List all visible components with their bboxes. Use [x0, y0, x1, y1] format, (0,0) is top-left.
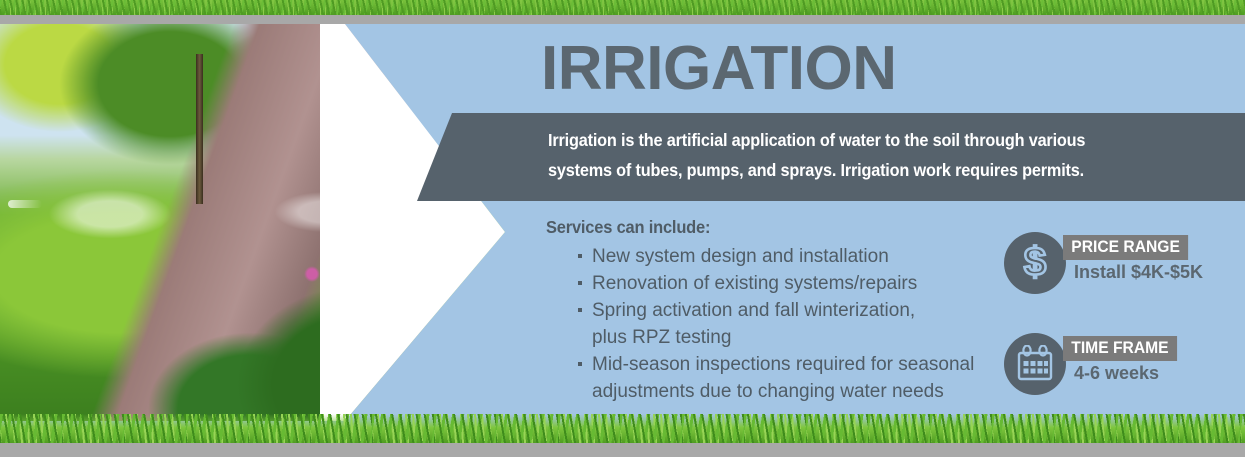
bullet-icon: [578, 281, 582, 285]
list-item-text: New system design and installation: [592, 246, 889, 267]
list-item: Spring activation and fall winterization…: [578, 297, 974, 351]
gray-divider-bottom: [0, 443, 1245, 457]
photo-image: [0, 24, 505, 421]
status-badge-time-frame: TIME FRAME 4-6 weeks: [1004, 333, 1234, 397]
irrigation-photo: [0, 24, 505, 421]
list-item: New system design and installation: [578, 243, 974, 270]
status-badge-price-range: $ PRICE RANGE Install $4K-$5K: [1004, 232, 1234, 296]
time-frame-value: 4-6 weeks: [1074, 363, 1159, 384]
sprinkler-detail: [8, 200, 42, 208]
price-range-label: PRICE RANGE: [1063, 235, 1188, 260]
bullet-icon: [578, 308, 582, 312]
irrigation-service-card: IRRIGATION Irrigation is the artificial …: [0, 0, 1245, 457]
time-frame-label: TIME FRAME: [1063, 336, 1177, 361]
calendar-icon: [1004, 333, 1066, 395]
description-line-2: systems of tubes, pumps, and sprays. Irr…: [548, 155, 1162, 185]
gray-divider-top: [0, 15, 1245, 24]
grass-strip-bottom: [0, 414, 1245, 444]
description-line-1: Irrigation is the artificial application…: [548, 125, 1162, 155]
dollar-sign-icon: $: [1004, 232, 1066, 294]
tree-trunk-detail: [196, 54, 203, 204]
list-item-text: Spring activation and fall winterization…: [592, 300, 915, 321]
services-heading: Services can include:: [546, 217, 710, 238]
list-item-text: Renovation of existing systems/repairs: [592, 273, 917, 294]
list-item-text-continued: plus RPZ testing: [592, 324, 974, 351]
bullet-icon: [578, 254, 582, 258]
page-title: IRRIGATION: [541, 38, 897, 100]
grass-strip-top: [0, 0, 1245, 15]
bullet-icon: [578, 362, 582, 366]
list-item-text-continued: adjustments due to changing water needs: [592, 378, 974, 405]
list-item-text: Mid-season inspections required for seas…: [592, 354, 974, 375]
svg-text:$: $: [1024, 241, 1046, 284]
description-text: Irrigation is the artificial application…: [548, 125, 1162, 185]
price-range-value: Install $4K-$5K: [1074, 262, 1203, 283]
services-list: New system design and installation Renov…: [578, 243, 974, 405]
list-item: Renovation of existing systems/repairs: [578, 270, 974, 297]
list-item: Mid-season inspections required for seas…: [578, 351, 974, 405]
